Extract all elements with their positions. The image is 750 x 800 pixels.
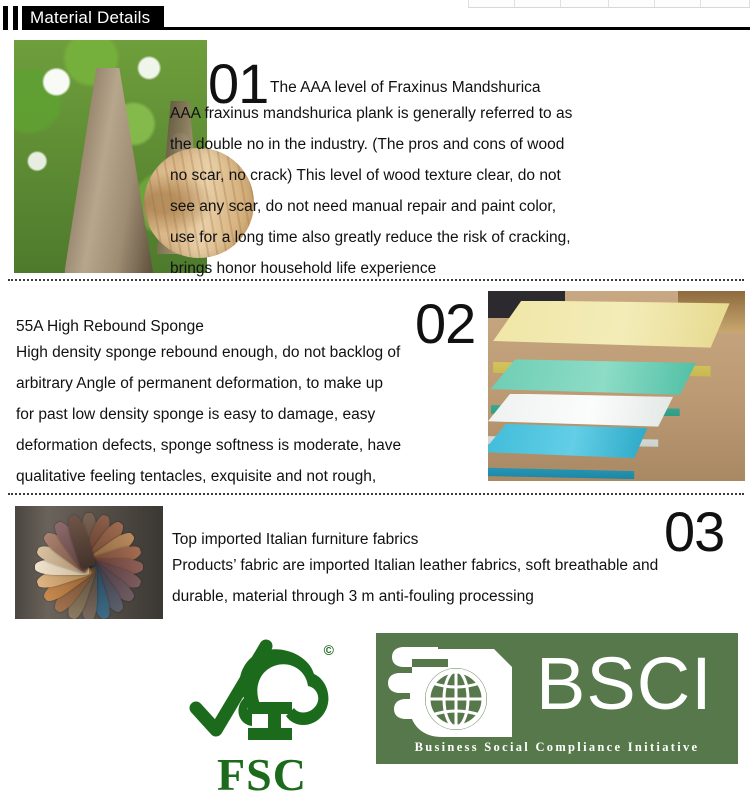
section-divider-1 [8, 279, 744, 281]
tree-trunk-primary [64, 68, 153, 273]
section-material-01: 01 The AAA level of Fraxinus Mandshurica… [0, 32, 750, 277]
bsci-tagline: Business Social Compliance Initiative [376, 740, 738, 755]
section-material-02: 02 55A High Rebound Sponge High density … [0, 286, 750, 491]
section-body-01: AAA fraxinus mandshurica plank is genera… [170, 98, 742, 284]
header-accent-bar-left [3, 6, 8, 30]
fsc-label: FSC [182, 752, 342, 798]
section-material-03: 03 Top imported Italian furniture fabric… [0, 500, 750, 625]
header-accent-bar-right [13, 6, 18, 30]
page-header: Material Details [0, 6, 750, 30]
foam-slab-cyan [488, 424, 647, 479]
section-body-02: High density sponge rebound enough, do n… [16, 337, 476, 492]
bsci-hand-globe-icon [386, 643, 536, 743]
stacked-foam-sponge-sheets-photo [488, 291, 745, 481]
fsc-logo: © FSC [182, 636, 342, 800]
header-rule [22, 27, 750, 30]
bsci-logo: BSCI Business Social Compliance Initiati… [376, 633, 738, 764]
bsci-label: BSCI [536, 647, 713, 721]
section-body-03: Products’ fabric are imported Italian le… [172, 550, 738, 612]
fsc-checkmark-tree-icon [182, 636, 342, 761]
fsc-copyright-symbol: © [324, 642, 334, 658]
section-divider-2 [8, 493, 744, 495]
certification-logos: © FSC BSCI Business Social Compli [0, 630, 750, 800]
leather-fabric-swatch-fan-photo [15, 506, 163, 619]
